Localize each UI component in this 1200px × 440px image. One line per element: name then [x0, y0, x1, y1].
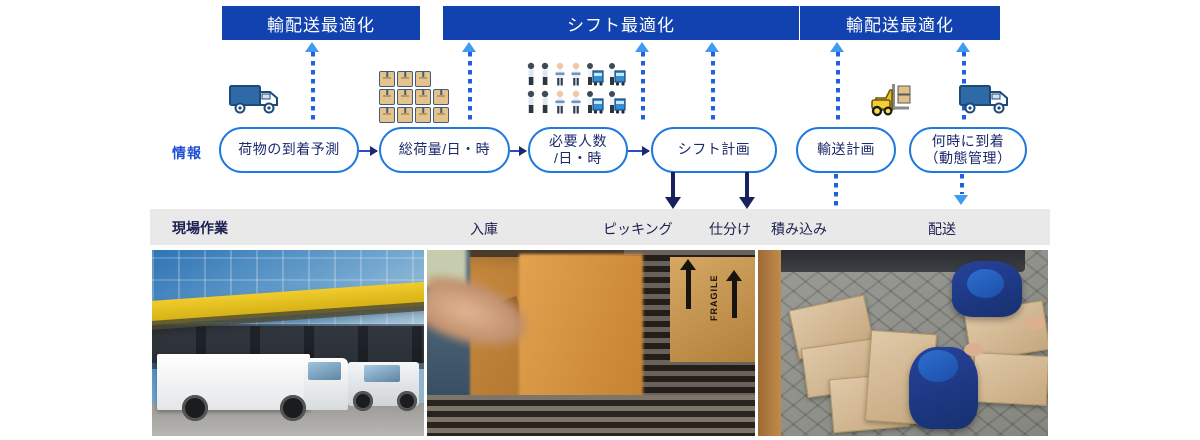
photo-cardboard-box-moving — [519, 254, 644, 410]
worker-pushing-cart-icon — [585, 90, 605, 114]
band-label-delivery: 配送 — [928, 219, 956, 239]
parcel-box — [397, 71, 413, 87]
worker-arms-folded-icon — [569, 62, 583, 86]
delivery-truck-icon — [228, 82, 284, 121]
banner-label: 輸配送最適化 — [267, 11, 375, 36]
dotted-arrowhead-down-delivery — [954, 195, 968, 205]
worker-arms-folded-icon — [553, 62, 567, 86]
banner-shift-optimization[interactable]: シフト最適化 — [443, 6, 799, 40]
parcel-box — [433, 107, 449, 123]
dotted-arrowhead-up-4 — [705, 42, 719, 52]
dotted-connector-up-4 — [711, 52, 715, 124]
photo-roller-conveyor-bottom — [427, 395, 755, 436]
banner-label: シフト最適化 — [567, 11, 675, 36]
diagram-canvas: 輸配送最適化 シフト最適化 輸配送最適化 — [0, 0, 1200, 440]
worker-arms-folded-icon — [569, 90, 583, 114]
parcel-box — [379, 107, 395, 123]
node-eta-tracking[interactable]: 何時に到着 （動態管理） — [909, 127, 1027, 173]
photo-worker-hand — [1025, 317, 1045, 330]
dotted-arrowhead-up-3 — [635, 42, 649, 52]
node-label-line: 何時に到着 — [925, 133, 1012, 150]
photo-worker-hand — [964, 343, 984, 356]
parcel-box — [415, 89, 431, 105]
worker-pushing-cart-icon — [607, 62, 627, 86]
worker-standing-icon — [525, 90, 537, 114]
parcel-box — [379, 89, 395, 105]
connector-arrow-2 — [510, 150, 526, 152]
photo-worker-cap — [918, 350, 959, 382]
dotted-connector-up-5 — [836, 52, 840, 124]
band-label-sorting: 仕分け — [709, 219, 751, 239]
node-label-line: 荷物の到着予測 — [238, 141, 340, 158]
solid-arrow-picking — [671, 172, 675, 198]
worker-standing-icon — [525, 62, 537, 86]
worker-pushing-cart-icon — [607, 90, 627, 114]
worker-arms-folded-icon — [553, 90, 567, 114]
photo-truck-wheel — [280, 395, 306, 421]
forklift-icon — [870, 78, 922, 123]
node-required-headcount[interactable]: 必要人数 /日・時 — [528, 127, 628, 173]
parcel-box — [379, 71, 395, 87]
node-shift-plan[interactable]: シフト計画 — [651, 127, 777, 173]
dotted-connector-up-2 — [468, 52, 472, 124]
band-label-inbound: 入庫 — [470, 219, 498, 239]
dotted-connector-down-loading — [834, 174, 838, 208]
band-label-picking: ピッキング — [603, 219, 673, 239]
dotted-connector-up-1 — [311, 52, 315, 124]
photo-truck-window-left — [308, 362, 341, 381]
parcel-box — [397, 89, 413, 105]
aerial-loading-workers-photo — [758, 250, 1048, 436]
photo-truck-wheel — [182, 395, 208, 421]
dotted-arrowhead-up-6 — [956, 42, 970, 52]
band-label-loading: 積み込み — [771, 219, 827, 239]
node-arrival-forecast[interactable]: 荷物の到着予測 — [219, 127, 359, 173]
delivery-truck-icon — [958, 82, 1014, 121]
parcel-grid-icon — [379, 71, 449, 123]
parcel-box-empty — [433, 71, 449, 87]
parcel-box — [415, 71, 431, 87]
photo-truck-window-right — [364, 365, 399, 382]
node-label-line: 総荷量/日・時 — [399, 141, 490, 158]
banner-transport-optimization-2[interactable]: 輸配送最適化 — [800, 6, 1000, 40]
information-row-label: 情報 — [172, 143, 202, 163]
workforce-icon-row-1 — [525, 62, 627, 86]
connector-arrow-3 — [628, 150, 649, 152]
photo-box-up-arrow — [732, 280, 737, 318]
worker-pushing-cart-icon — [585, 62, 605, 86]
solid-arrow-sorting — [745, 172, 749, 198]
dotted-connector-down-delivery — [960, 174, 964, 194]
photo-wooden-edge — [758, 250, 781, 436]
node-label-line: /日・時 — [549, 150, 607, 167]
photo-box-up-arrow — [686, 269, 691, 309]
node-label-line: 必要人数 — [549, 133, 607, 150]
node-label-line: （動態管理） — [925, 150, 1012, 167]
loading-dock-trucks-photo — [152, 250, 424, 436]
node-label-line: シフト計画 — [678, 141, 751, 158]
dotted-connector-up-3 — [641, 52, 645, 124]
banner-label: 輸配送最適化 — [846, 11, 954, 36]
onsite-operations-band — [150, 209, 1050, 245]
parcel-box — [397, 107, 413, 123]
parcel-box — [415, 107, 431, 123]
workforce-icon-row-2 — [525, 90, 627, 114]
worker-standing-icon — [539, 90, 551, 114]
band-label-onsite-work: 現場作業 — [172, 218, 228, 238]
worker-standing-icon — [539, 62, 551, 86]
dotted-arrowhead-up-2 — [462, 42, 476, 52]
banner-transport-optimization-1[interactable]: 輸配送最適化 — [222, 6, 420, 40]
photo-fragile-text: FRAGILE — [709, 274, 719, 321]
node-label-line: 輸送計画 — [817, 141, 875, 158]
conveyor-boxes-photo: FRAGILE — [427, 250, 755, 436]
parcel-box — [433, 89, 449, 105]
photo-cardboard-box — [971, 352, 1048, 406]
node-total-volume[interactable]: 総荷量/日・時 — [379, 127, 510, 173]
dotted-arrowhead-up-1 — [305, 42, 319, 52]
node-transport-plan[interactable]: 輸送計画 — [796, 127, 896, 173]
connector-arrow-1 — [359, 150, 377, 152]
dotted-arrowhead-up-5 — [830, 42, 844, 52]
